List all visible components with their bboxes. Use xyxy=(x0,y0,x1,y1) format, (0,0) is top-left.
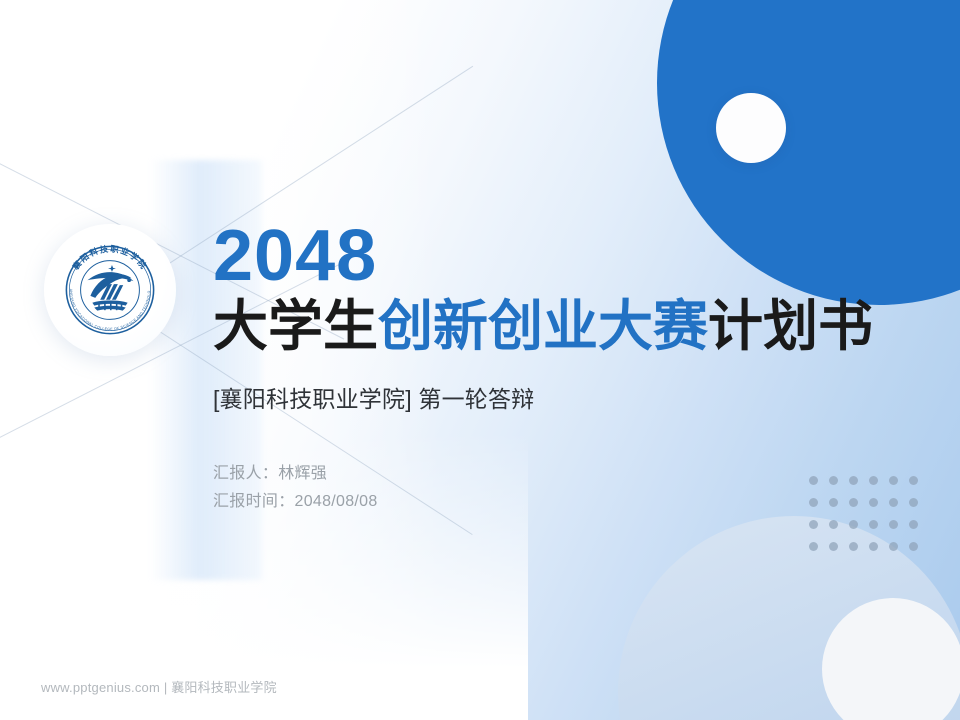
presenter-meta: 汇报人：林辉强 汇报时间：2048/08/08 xyxy=(213,460,913,516)
presentation-date: 汇报时间：2048/08/08 xyxy=(213,488,913,516)
page-title: 大学生创新创业大赛计划书 xyxy=(213,295,913,358)
headline-accent: 创新创业大赛 xyxy=(378,295,708,357)
slide-year: 2048 xyxy=(213,222,913,291)
slide-subtitle: [襄阳科技职业学院] 第一轮答辩 xyxy=(213,380,913,414)
presentation-slide: 襄阳科技职业学院 XIANGYANG VOCATIONAL COLLEGE OF… xyxy=(0,0,960,720)
headline-prefix: 大学生 xyxy=(213,295,378,357)
college-logo-icon: 襄阳科技职业学院 XIANGYANG VOCATIONAL COLLEGE OF… xyxy=(61,241,159,339)
white-circle-decoration xyxy=(716,93,786,163)
slide-footer: www.pptgenius.com | 襄阳科技职业学院 xyxy=(41,677,277,696)
headline-suffix: 计划书 xyxy=(708,295,873,357)
presenter-name: 汇报人：林辉强 xyxy=(213,460,913,488)
title-text-block: 2048 大学生创新创业大赛计划书 [襄阳科技职业学院] 第一轮答辩 汇报人：林… xyxy=(213,222,913,516)
